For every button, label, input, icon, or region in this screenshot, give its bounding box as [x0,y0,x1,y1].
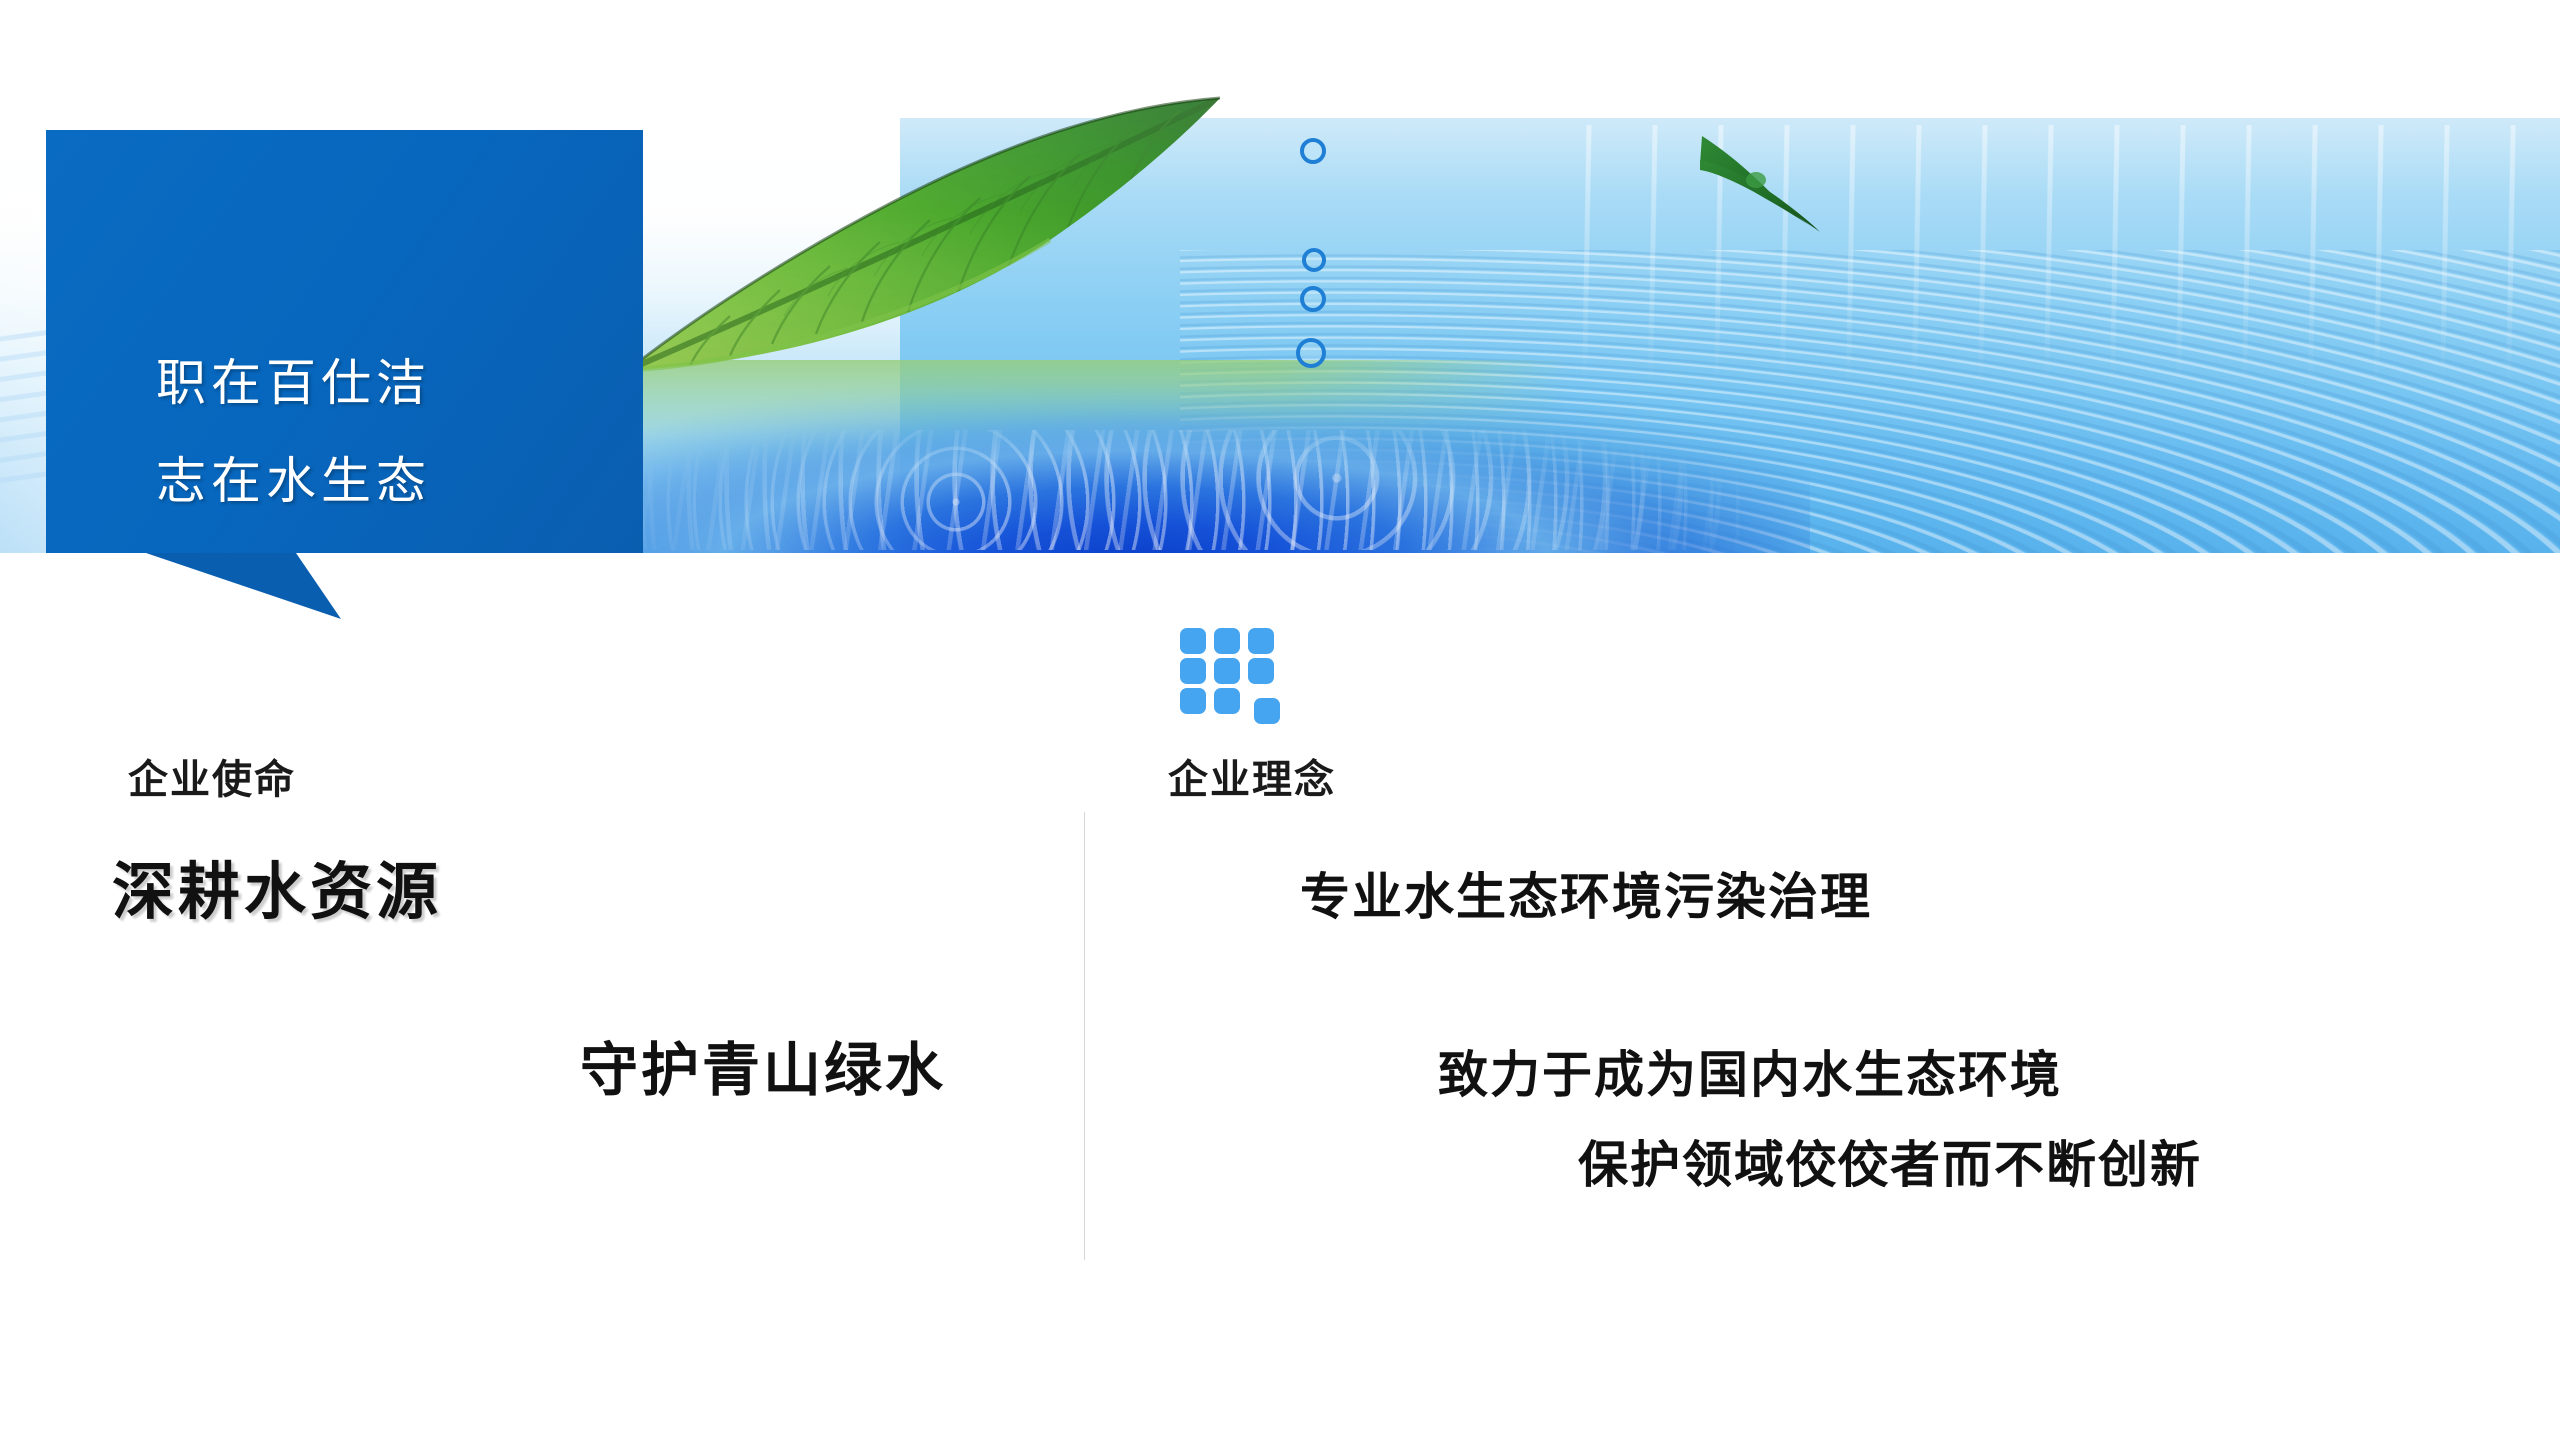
philosophy-line-1: 专业水生态环境污染治理 [1300,872,1872,922]
slogan-callout-tail [46,553,366,633]
hero-banner: 职在百仕洁 志在水生态 [0,0,2560,553]
philosophy-line-3: 保护领域佼佼者而不断创新 [1578,1140,2202,1190]
mission-line-1: 深耕水资源 [112,862,442,924]
mission-heading: 企业使命 [128,760,296,800]
water-droplet-icon [1302,248,1326,272]
green-leaf-icon [620,70,1240,390]
slogan-line-2: 志在水生态 [156,456,431,506]
slogan-line-1: 职在百仕洁 [156,358,431,408]
water-splash-texture [620,430,1740,550]
column-divider [1084,812,1085,1260]
water-droplet-icon [1300,286,1326,312]
banner-bottom-edge [0,553,2560,593]
water-droplet-icon [1296,338,1326,368]
slogan-callout-box: 职在百仕洁 志在水生态 [46,130,643,553]
leaf-stem-icon [1700,130,1900,240]
grid-nine-squares-icon [1180,628,1286,726]
water-droplet-icon [1300,138,1326,164]
philosophy-line-2: 致力于成为国内水生态环境 [1438,1050,2062,1100]
mission-line-2: 守护青山绿水 [580,1042,946,1100]
philosophy-heading: 企业理念 [1168,760,1336,800]
